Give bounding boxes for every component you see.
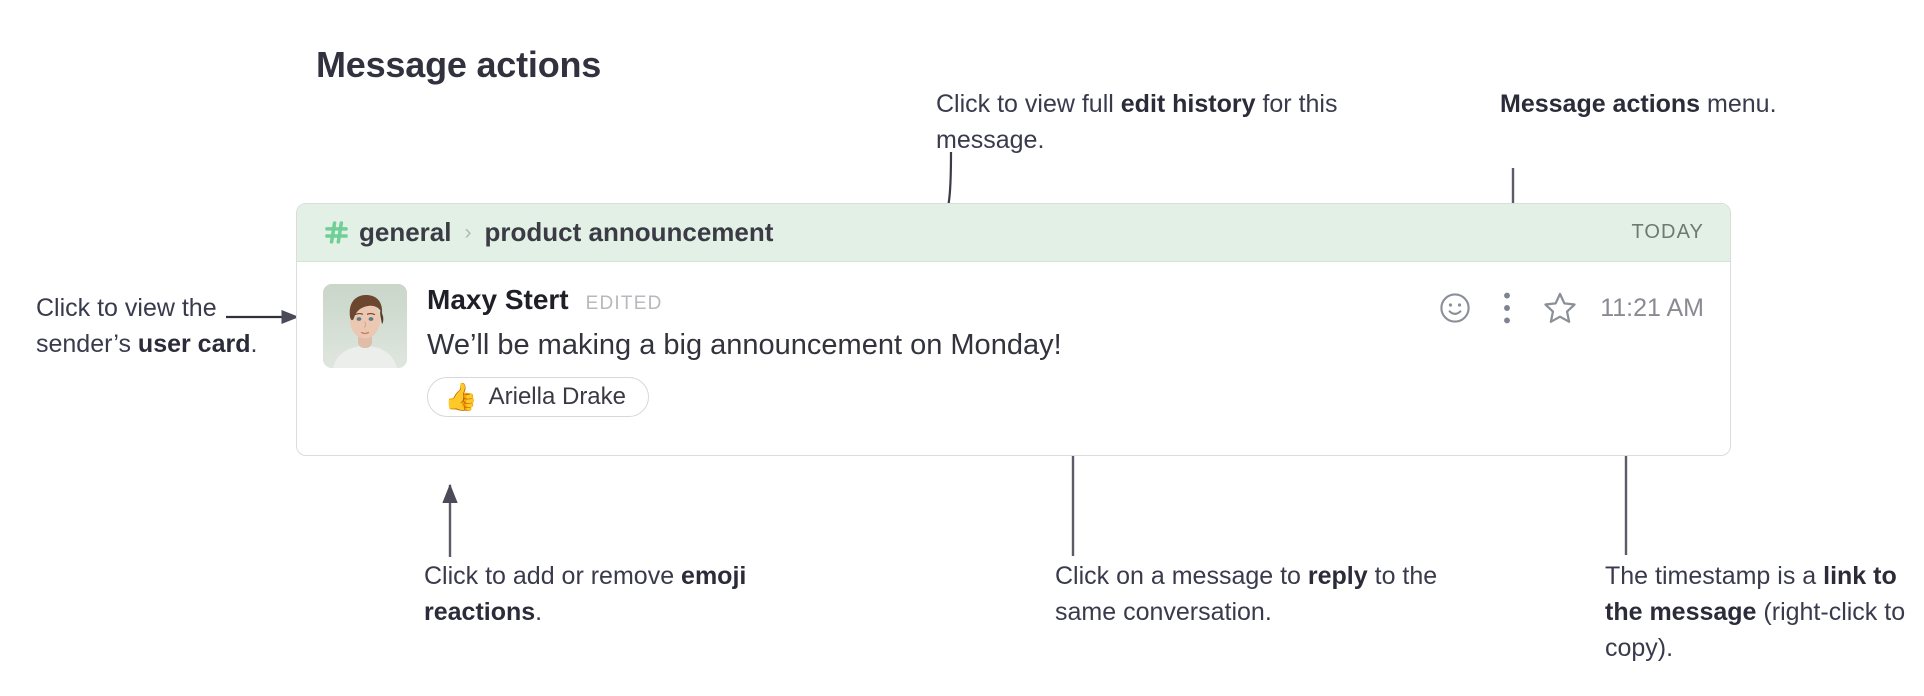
message-text[interactable]: We’ll be making a big announcement on Mo… [427, 329, 1704, 362]
kebab-menu-icon[interactable] [1502, 291, 1542, 325]
hash-icon [323, 219, 350, 246]
message-row[interactable]: Maxy Stert EDITED We’ll be making a big … [297, 262, 1730, 417]
annotation-user-card: Click to view the sender’s user card. [36, 290, 266, 362]
annotation-text: Click to add or remove [424, 562, 681, 590]
reaction-row: 👍 Ariella Drake [427, 377, 1704, 417]
date-label: TODAY [1631, 221, 1704, 244]
sender-name[interactable]: Maxy Stert [427, 284, 569, 316]
page-title: Message actions [316, 44, 601, 86]
annotation-reply: Click on a message to reply to the same … [1055, 558, 1455, 630]
message-timestamp[interactable]: 11:21 AM [1600, 294, 1704, 323]
annotation-emphasis: edit history [1121, 90, 1256, 118]
annotation-emoji-reactions: Click to add or remove emoji reactions. [424, 558, 764, 630]
channel-breadcrumb-bar: general › product announcement TODAY [297, 204, 1730, 262]
message-actions-toolbar: 11:21 AM [1438, 290, 1704, 326]
annotation-emphasis: Message actions [1500, 90, 1700, 118]
annotation-emphasis: user card [138, 330, 251, 358]
emoji-reaction-pill[interactable]: 👍 Ariella Drake [427, 377, 649, 417]
message-card: general › product announcement TODAY [296, 203, 1731, 456]
annotation-text: . [535, 598, 542, 626]
thumbs-up-emoji: 👍 [444, 384, 478, 411]
annotation-text: Click on a message to [1055, 562, 1308, 590]
reaction-user-name: Ariella Drake [489, 383, 626, 411]
edited-badge[interactable]: EDITED [586, 293, 663, 315]
avatar[interactable] [323, 284, 407, 368]
annotation-emphasis: reply [1308, 562, 1368, 590]
chevron-right-icon: › [465, 221, 472, 245]
annotation-text: Click to view full [936, 90, 1121, 118]
breadcrumb-channel[interactable]: general [359, 217, 452, 248]
annotation-actions-menu: Message actions menu. [1500, 86, 1800, 122]
annotation-text: menu. [1700, 90, 1776, 118]
breadcrumb-topic[interactable]: product announcement [485, 217, 774, 248]
annotation-edit-history: Click to view full edit history for this… [936, 86, 1356, 158]
annotation-text: . [250, 330, 257, 358]
annotation-timestamp: The timestamp is a link to the message (… [1605, 558, 1915, 666]
annotation-text: The timestamp is a [1605, 562, 1823, 590]
emoji-react-icon[interactable] [1438, 291, 1502, 325]
star-icon[interactable] [1542, 290, 1600, 326]
